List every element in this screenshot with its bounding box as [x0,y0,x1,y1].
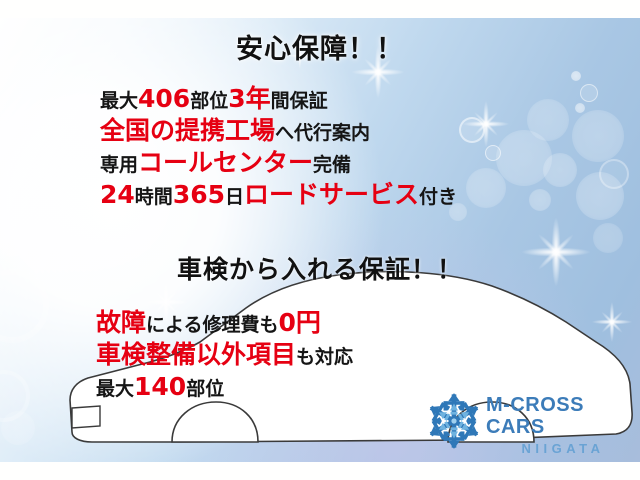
text-segment: 最大 [96,378,134,400]
logo-name: M-CROSS CARS [486,394,636,438]
text-segment: 間保証 [271,90,328,112]
text-segment: による修理費も [146,314,278,336]
mid-headline-wrap: 車検から入れる保証！！ [0,250,640,286]
logo-text-group: M-CROSS CARS NIIGATA [486,394,636,456]
text-segment: 140 [134,372,186,401]
text-line-dedicated-call-center: 専用コールセンター完備 [100,150,520,176]
top-white-bar [0,0,640,18]
text-line-repair-cost-zero-yen: 故障による修理費も0円 [96,310,476,336]
text-segment: コールセンター [138,148,313,177]
text-segment: へ代行案内 [275,122,370,144]
text-segment: 故障 [96,308,146,337]
snowflake-icon [424,392,484,450]
text-segment: 付き [419,186,457,208]
text-segment: 日 [225,186,244,208]
coverage-list: 故障による修理費も0円車検整備以外項目も対応最大140部位 [96,310,476,406]
text-line-warranty-parts-years: 最大406部位3年間保証 [100,86,520,112]
text-line-non-inspection-items: 車検整備以外項目も対応 [96,342,476,368]
text-segment: 3年 [228,84,270,113]
text-segment: 406 [138,84,190,113]
text-segment: 365 [173,180,225,209]
banner-canvas: 安心保障！！ 最大406部位3年間保証全国の提携工場へ代行案内専用コールセンター… [0,0,640,480]
text-segment: 完備 [313,154,351,176]
text-segment: 時間 [135,186,173,208]
text-segment: 部位 [186,378,224,400]
text-segment: 24 [100,180,135,209]
mid-headline: 車検から入れる保証！！ [177,250,463,286]
text-segment: 部位 [190,90,228,112]
text-segment: 専用 [100,154,138,176]
text-segment: 最大 [100,90,138,112]
brand-logo[interactable]: M-CROSS CARS NIIGATA [424,388,636,456]
page-title: 安心保障！！ [0,27,640,66]
bottom-white-bar [0,462,640,480]
text-line-nationwide-partner-factories: 全国の提携工場へ代行案内 [100,118,520,144]
text-segment: 全国の提携工場 [100,116,275,145]
text-segment: ロードサービス [244,180,419,209]
text-line-max-parts-140: 最大140部位 [96,374,476,400]
text-line-road-service: 24時間365日ロードサービス付き [100,182,520,208]
logo-subtitle: NIIGATA [486,441,636,456]
benefits-list: 最大406部位3年間保証全国の提携工場へ代行案内専用コールセンター完備24時間3… [100,86,520,214]
text-segment: も対応 [296,346,353,368]
text-segment: 0円 [278,308,320,337]
text-segment: 車検整備以外項目 [96,340,296,369]
